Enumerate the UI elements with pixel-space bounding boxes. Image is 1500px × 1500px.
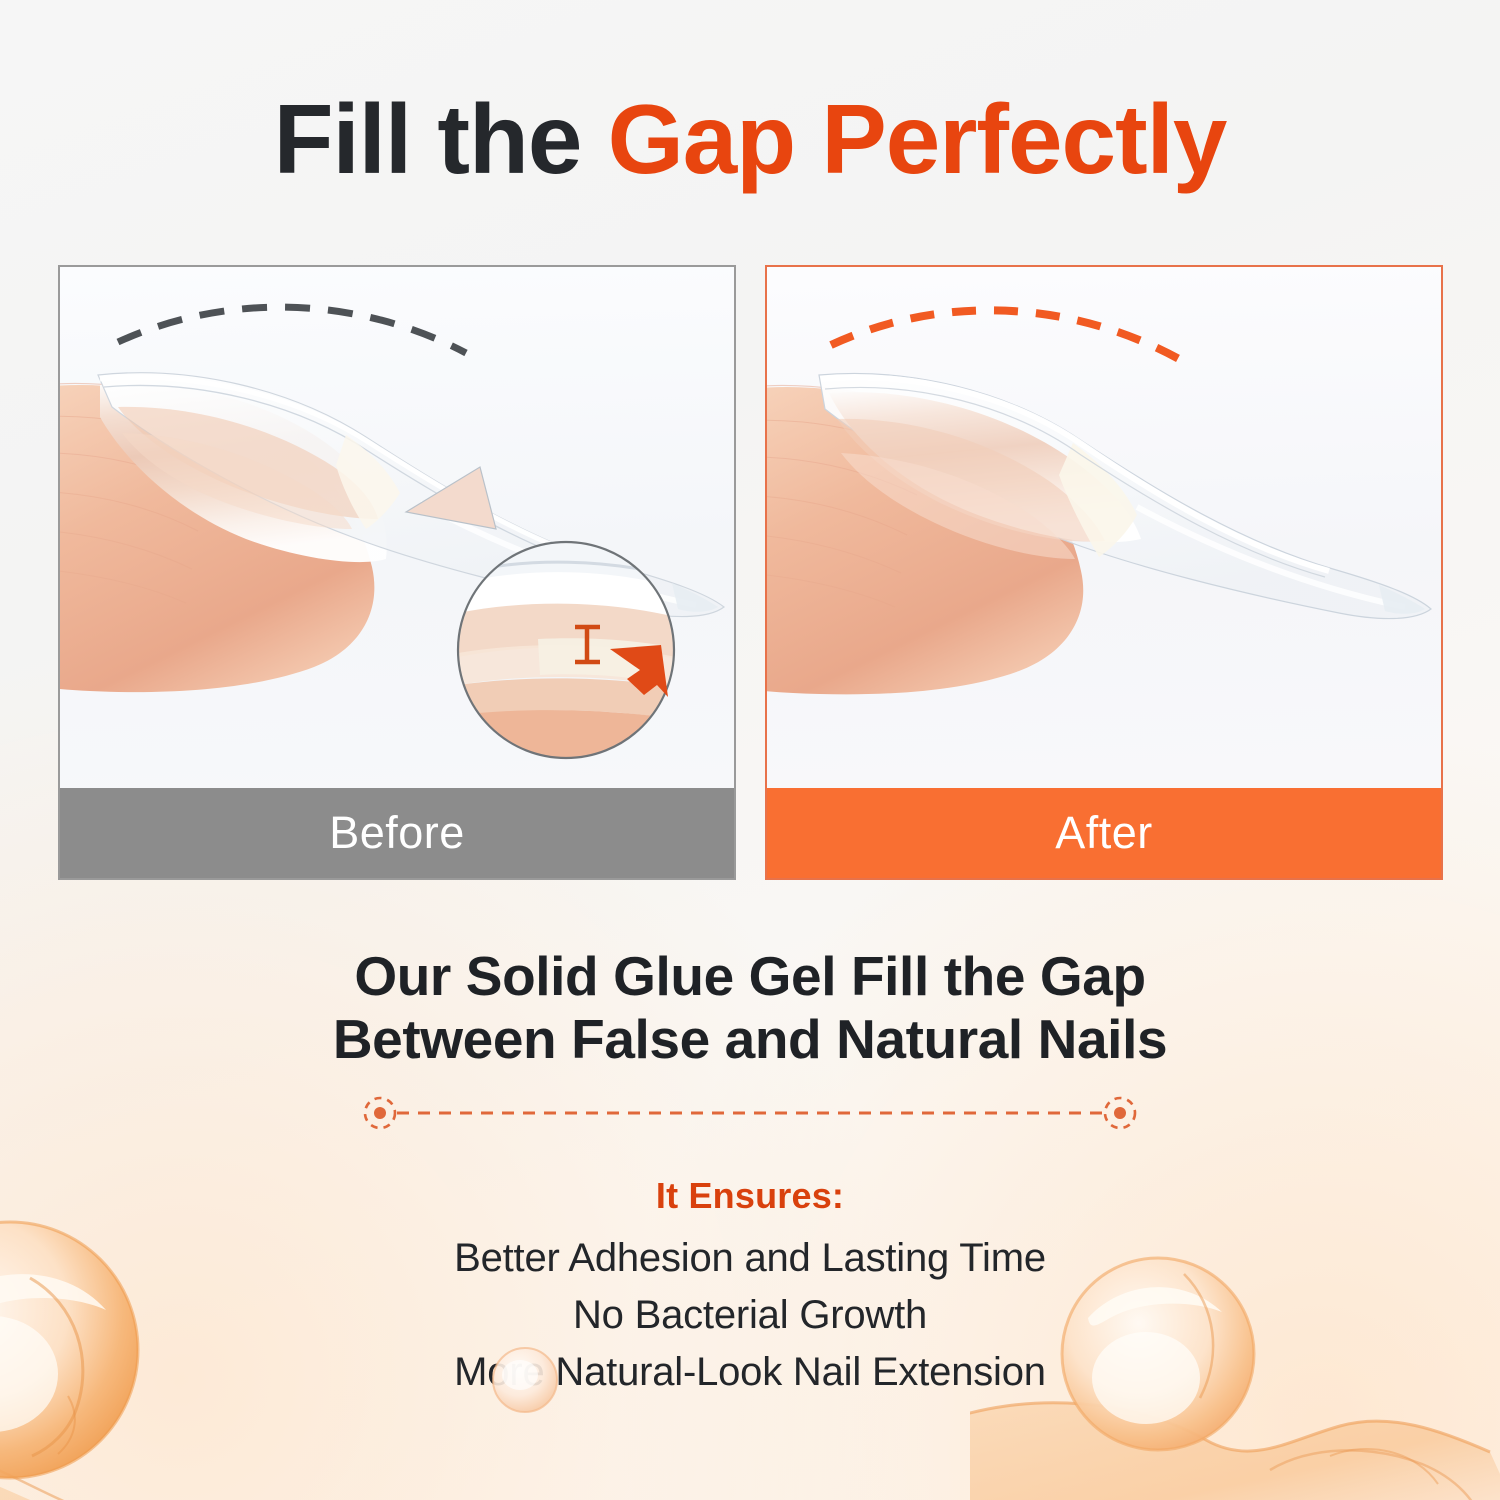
page-title-part1: Fill the [274, 84, 608, 194]
divider-graphic [355, 1092, 1145, 1134]
comparison-panels: Before [58, 265, 1443, 880]
caption-after: After [767, 788, 1441, 878]
subheading-line-2: Between False and Natural Nails [0, 1008, 1500, 1071]
panel-before: Before [58, 265, 736, 880]
dashed-circle-dot-icon-left [365, 1098, 395, 1128]
photo-before [60, 267, 734, 792]
after-illustration [767, 267, 1441, 792]
gap-arc-after [831, 310, 1179, 359]
ensures-item: No Bacterial Growth [0, 1287, 1500, 1344]
magnifier-callout-before [406, 467, 676, 759]
dashed-circle-dot-icon-right [1105, 1098, 1135, 1128]
gap-arc-before [118, 307, 466, 353]
caption-before: Before [60, 788, 734, 878]
ensures-item: More Natural-Look Nail Extension [0, 1344, 1500, 1401]
promo-banner: Fill the Gap Perfectly [0, 0, 1500, 1500]
page-title-part2: Gap Perfectly [608, 84, 1227, 194]
ensures-title: It Ensures: [0, 1175, 1500, 1217]
panel-after: After [765, 265, 1443, 880]
photo-after [767, 267, 1441, 792]
subheading-line-1: Our Solid Glue Gel Fill the Gap [0, 945, 1500, 1008]
section-divider [355, 1092, 1145, 1134]
subheading: Our Solid Glue Gel Fill the Gap Between … [0, 945, 1500, 1070]
ensures-item: Better Adhesion and Lasting Time [0, 1230, 1500, 1287]
page-title: Fill the Gap Perfectly [0, 88, 1500, 192]
ensures-block: It Ensures: Better Adhesion and Lasting … [0, 1175, 1500, 1400]
before-illustration [60, 267, 734, 792]
